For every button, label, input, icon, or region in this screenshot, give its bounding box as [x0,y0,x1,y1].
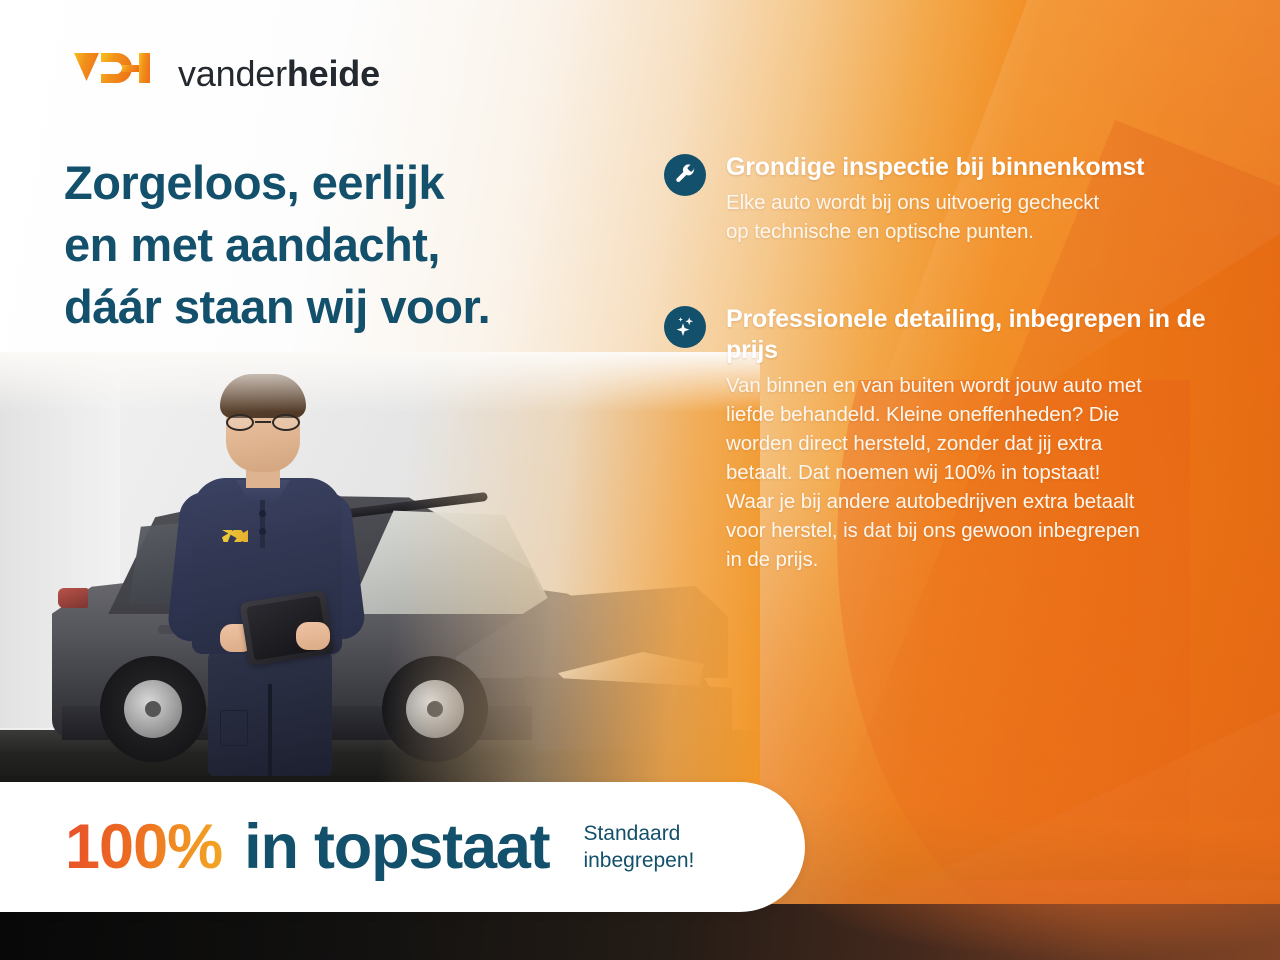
vdh-logo-mark-icon [74,52,152,96]
brand-wordmark: vanderheide [178,53,380,95]
feature-item-inspection: Grondige inspectie bij binnenkomst Elke … [664,152,1220,246]
feature-desc-line-5: Waar je bij andere autobedrijven extra b… [726,487,1220,516]
feature-desc-line-2: liefde behandeld. Kleine oneffenheden? D… [726,400,1220,429]
feature-desc-line-3: worden direct hersteld, zonder dat jij e… [726,429,1220,458]
sparkles-icon-glyph [673,315,697,339]
brand-word-light: vander [178,53,287,94]
feature-title-line-1: Professionele detailing, [726,305,1002,333]
feature-title-line-1: Grondige inspectie bij binnenkomst [726,153,1144,181]
feature-title: Grondige inspectie bij binnenkomst [726,152,1220,184]
feature-desc-line-7: in de prijs. [726,545,1220,574]
feature-desc-line-2: op technische en optische punten. [726,217,1220,246]
bottom-floor-sheen [780,880,1280,960]
badge-sub-line-1: Standaard [583,820,694,847]
technician-car-photo [0,352,760,792]
topstaat-badge-content: 100% in topstaat Standaard inbegrepen! [0,816,694,879]
badge-sub-label: Standaard inbegrepen! [583,820,694,875]
feature-desc-line-6: voor herstel, is dat bij ons gewoon inbe… [726,516,1220,545]
topstaat-badge-banner: 100% in topstaat Standaard inbegrepen! [0,782,805,912]
feature-description: Elke auto wordt bij ons uitvoerig gechec… [726,188,1220,246]
feature-desc-line-4: betaalt. Dat noemen wij 100% in topstaat… [726,458,1220,487]
feature-text-inspection: Grondige inspectie bij binnenkomst Elke … [726,152,1220,246]
feature-title: Professionele detailing, inbegrepen in d… [726,304,1220,367]
feature-list: Grondige inspectie bij binnenkomst Elke … [664,152,1220,574]
sparkles-icon [664,306,706,348]
badge-sub-line-2: inbegrepen! [583,847,694,874]
brand-logo[interactable]: vanderheide [74,52,380,96]
feature-text-detailing: Professionele detailing, inbegrepen in d… [726,304,1220,575]
promo-banner: vanderheide Zorgeloos, eerlijk en met aa… [0,0,1280,960]
photo-fade-top [0,352,760,412]
brand-word-bold: heide [287,53,380,94]
badge-percent: 100% [65,816,222,879]
feature-desc-line-1: Elke auto wordt bij ons uitvoerig gechec… [726,188,1220,217]
page-title: Zorgeloos, eerlijk en met aandacht, dáár… [64,152,644,338]
badge-main-label: in topstaat [244,816,549,879]
feature-desc-line-1: Van binnen en van buiten wordt jouw auto… [726,371,1220,400]
wrench-icon [664,154,706,196]
headline-line-3: dáár staan wij voor. [64,276,644,338]
photo-fade-overlay [0,352,760,792]
feature-description: Van binnen en van buiten wordt jouw auto… [726,371,1220,575]
wrench-icon-glyph [673,163,697,187]
feature-item-detailing: Professionele detailing, inbegrepen in d… [664,304,1220,575]
headline-line-1: Zorgeloos, eerlijk [64,152,644,214]
headline-line-2: en met aandacht, [64,214,644,276]
